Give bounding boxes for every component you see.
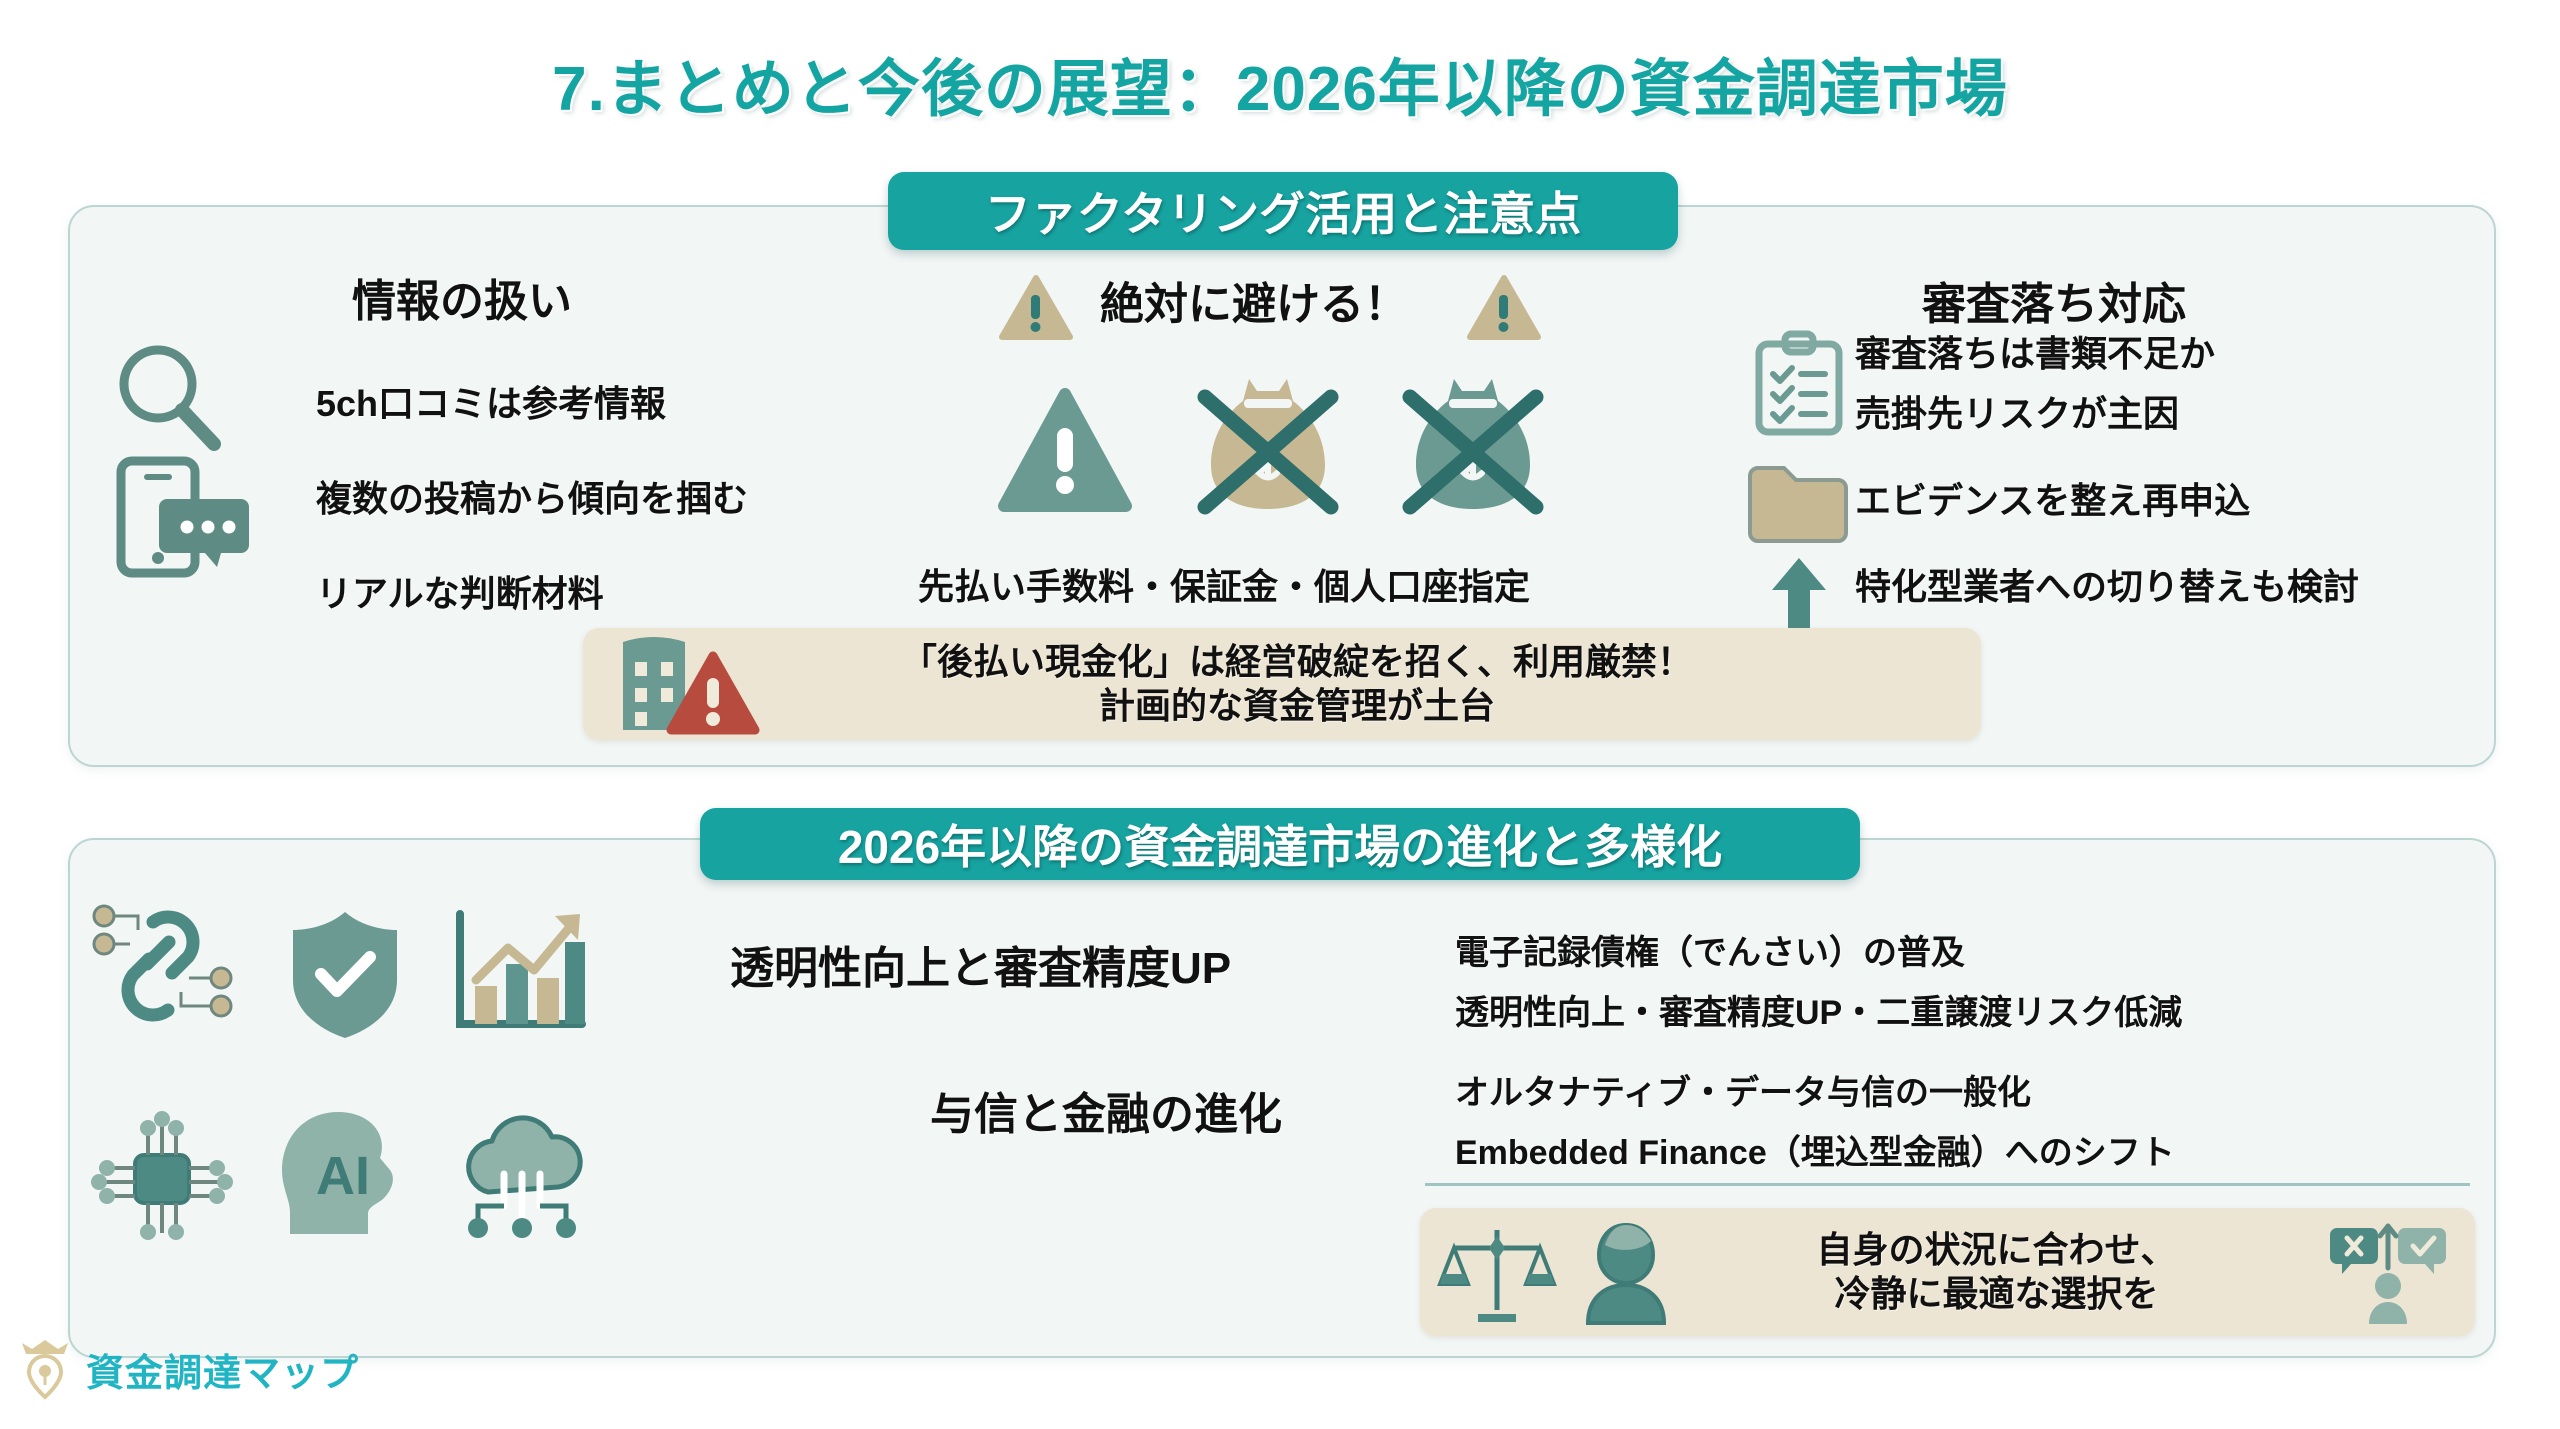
up-arrow-icon [1768,556,1830,632]
rejection-line-3: エビデンスを整え再申込 [1855,472,2250,524]
rejection-line-4: 特化型業者への切り替えも検討 [1855,558,2359,610]
advice-banner: 自身の状況に合わせ、 冷静に最適な選択を [1420,1208,2475,1336]
rejection-line-2: 売掛先リスクが主因 [1855,385,2179,437]
slide-root: 7.まとめと今後の展望：2026年以降の資金調達市場 ファクタリング活用と注意点… [0,0,2560,1429]
future-detail-1-line2: 透明性向上・審査精度UP・二重譲渡リスク低減 [1455,985,2182,1034]
cpu-chip-icon [90,1110,235,1240]
warning-triangle-icon [1000,388,1130,513]
money-bag-crossed-icon [1193,375,1343,515]
future-row-label-1: 透明性向上と審査精度UP [730,932,1231,996]
col-heading-avoid: 絶対に避ける！ [1100,268,1408,332]
rejection-line-1: 審査落ちは書類不足か [1855,325,2215,377]
warning-banner-text: 「後払い現金化」は経営破綻を招く、利用厳禁！ 計画的な資金管理が土台 [743,640,1981,728]
person-icon [1578,1221,1674,1323]
info-line-1: 5ch口コミは参考情報 [316,375,666,427]
warning-triangle-small-right-icon [1468,275,1540,341]
folder-icon [1748,462,1848,547]
crown-pin-icon [18,1340,72,1398]
advice-banner-line2: 冷静に最適な選択を [1666,1272,2327,1316]
footer-logo[interactable]: 資金調達マップ [18,1340,359,1398]
page-title: 7.まとめと今後の展望：2026年以降の資金調達市場 [0,38,2560,128]
ai-head-icon: AI [278,1108,408,1238]
warning-triangle-small-left-icon [1000,275,1072,341]
col-heading-rejection: 審査落ち対応 [1922,268,2186,332]
section-badge-factoring: ファクタリング活用と注意点 [888,172,1678,250]
warning-banner-cashing: 「後払い現金化」は経営破綻を招く、利用厳禁！ 計画的な資金管理が土台 [583,628,1981,740]
clipboard-check-icon [1753,332,1845,437]
section-badge-future-market: 2026年以降の資金調達市場の進化と多様化 [700,808,1860,880]
blockchain-link-icon [90,900,235,1030]
future-detail-2-line1: オルタナティブ・データ与信の一般化 [1455,1065,2031,1114]
scales-balance-icon [1442,1222,1552,1322]
smartphone-chat-icon [115,455,250,580]
col-heading-info-handling: 情報の扱い [352,265,572,329]
future-row-label-2: 与信と金融の進化 [930,1078,1282,1142]
choice-arrows-icon [2329,1220,2447,1324]
magnifier-icon [110,340,230,460]
info-line-3: リアルな判断材料 [316,565,604,617]
info-line-2: 複数の投稿から傾向を掴む [316,470,748,522]
advice-banner-text: 自身の状況に合わせ、 冷静に最適な選択を [1626,1228,2357,1316]
building-warning-icon [613,634,773,734]
advice-banner-line1: 自身の状況に合わせ、 [1666,1228,2327,1272]
shield-check-icon [285,908,405,1040]
future-detail-2-line2: Embedded Finance（埋込型金融）へのシフト [1455,1125,2175,1174]
warning-banner-line2: 計画的な資金管理が土台 [743,684,1851,728]
avoid-caption: 先払い手数料・保証金・個人口座指定 [918,558,1530,610]
footer-brand: 資金調達マップ [86,1342,359,1397]
future-detail-1-line1: 電子記録債権（でんさい）の普及 [1455,925,1965,974]
bar-chart-growth-icon [450,908,590,1038]
cloud-network-icon [452,1112,592,1240]
warning-banner-line1: 「後払い現金化」は経営破綻を招く、利用厳禁！ [743,640,1851,684]
future-detail-divider [1425,1183,2470,1186]
svg-text:AI: AI [316,1146,370,1206]
money-bag-crossed-icon [1398,375,1548,515]
